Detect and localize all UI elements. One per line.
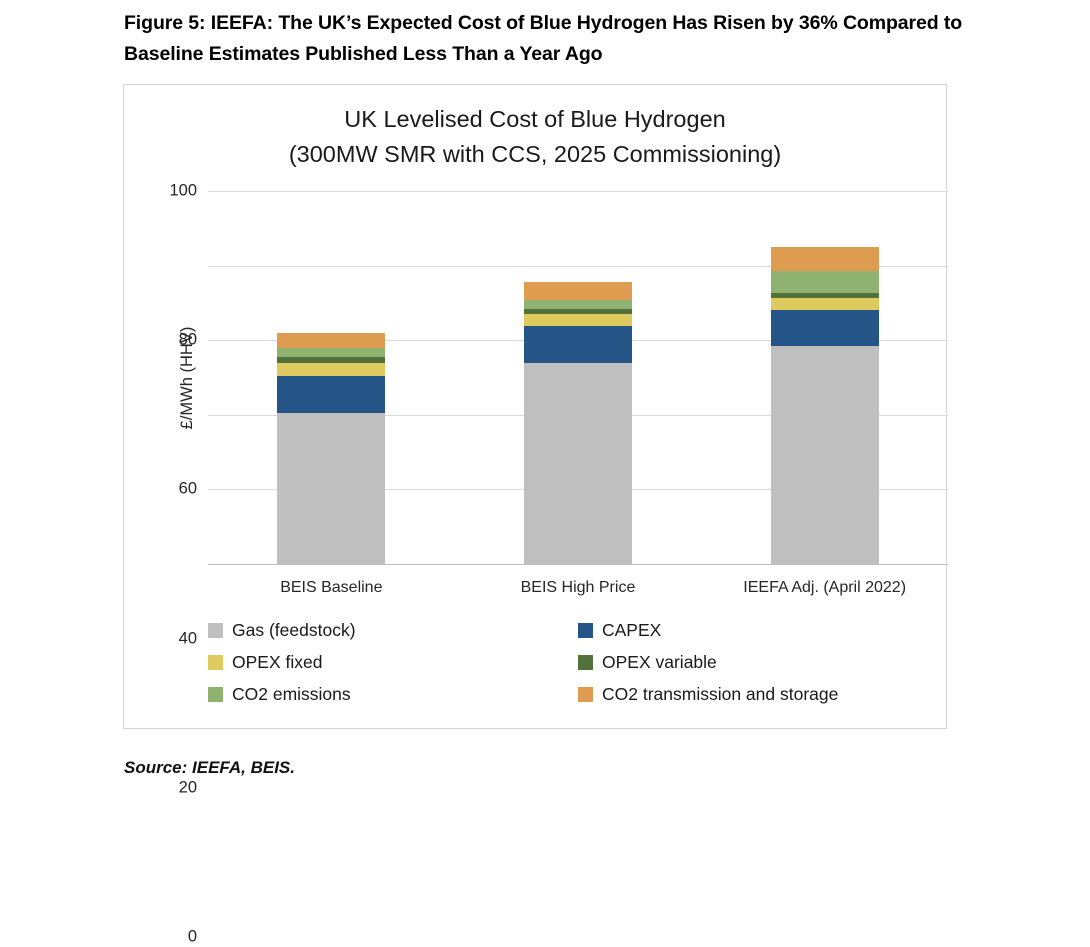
bar-group: BEIS Baseline <box>208 191 455 564</box>
bar-segment[interactable] <box>277 413 385 564</box>
bar-segment[interactable] <box>524 282 632 300</box>
bar-segment[interactable] <box>524 326 632 363</box>
bar-segment[interactable] <box>524 314 632 326</box>
legend-swatch-icon <box>578 687 593 702</box>
bar-group: IEEFA Adj. (April 2022) <box>701 191 948 564</box>
y-axis-tick-label: 20 <box>179 778 197 797</box>
y-axis-tick-label: 80 <box>179 331 197 350</box>
bar-segment[interactable] <box>277 333 385 349</box>
bar-segment[interactable] <box>771 298 879 310</box>
bar-segment[interactable] <box>771 271 879 293</box>
y-axis-tick-label: 40 <box>179 629 197 648</box>
legend-label: OPEX fixed <box>232 652 322 673</box>
bar-group: BEIS High Price <box>455 191 702 564</box>
legend-swatch-icon <box>578 655 593 670</box>
legend-label: CAPEX <box>602 620 661 641</box>
bar-segment[interactable] <box>277 376 385 413</box>
legend-swatch-icon <box>208 687 223 702</box>
stacked-bar[interactable] <box>524 282 632 564</box>
plot-area: £/MWh (HHV) 100806040200 BEIS BaselineBE… <box>208 191 948 564</box>
y-axis-tick-label: 60 <box>179 480 197 499</box>
legend-label: CO2 transmission and storage <box>602 684 838 705</box>
bar-segment[interactable] <box>771 346 879 564</box>
x-axis-category-label: BEIS High Price <box>455 579 702 597</box>
figure-caption: Figure 5: IEEFA: The UK’s Expected Cost … <box>124 8 964 70</box>
bar-segment[interactable] <box>277 363 385 376</box>
y-axis-tick-label: 0 <box>188 928 197 947</box>
chart-title-line-2: (300MW SMR with CCS, 2025 Commissioning) <box>124 137 946 172</box>
chart-title-line-1: UK Levelised Cost of Blue Hydrogen <box>124 102 946 137</box>
legend-item[interactable]: CO2 emissions <box>208 678 578 710</box>
legend-swatch-icon <box>208 655 223 670</box>
legend-label: CO2 emissions <box>232 684 351 705</box>
legend-item[interactable]: CAPEX <box>578 614 948 646</box>
legend-item[interactable]: CO2 transmission and storage <box>578 678 948 710</box>
x-axis-line: 0 <box>208 564 948 565</box>
legend-item[interactable]: OPEX variable <box>578 646 948 678</box>
stacked-bar[interactable] <box>771 247 879 564</box>
bar-segment[interactable] <box>277 348 385 357</box>
bar-segment[interactable] <box>524 363 632 564</box>
stacked-bar[interactable] <box>277 333 385 564</box>
legend-swatch-icon <box>578 623 593 638</box>
chart-container: UK Levelised Cost of Blue Hydrogen (300M… <box>123 84 947 729</box>
legend-swatch-icon <box>208 623 223 638</box>
legend-item[interactable]: Gas (feedstock) <box>208 614 578 646</box>
legend-label: Gas (feedstock) <box>232 620 356 641</box>
x-axis-category-label: IEEFA Adj. (April 2022) <box>701 579 948 597</box>
chart-legend: Gas (feedstock)CAPEXOPEX fixedOPEX varia… <box>208 614 948 710</box>
bar-segment[interactable] <box>771 247 879 271</box>
bar-segment[interactable] <box>771 310 879 346</box>
source-note: Source: IEEFA, BEIS. <box>124 758 295 778</box>
x-axis-category-label: BEIS Baseline <box>208 579 455 597</box>
figure-page: Figure 5: IEEFA: The UK’s Expected Cost … <box>0 0 1090 799</box>
bar-segment[interactable] <box>524 300 632 309</box>
chart-title: UK Levelised Cost of Blue Hydrogen (300M… <box>124 102 946 172</box>
legend-label: OPEX variable <box>602 652 717 673</box>
legend-item[interactable]: OPEX fixed <box>208 646 578 678</box>
y-axis-tick-label: 100 <box>169 182 197 201</box>
